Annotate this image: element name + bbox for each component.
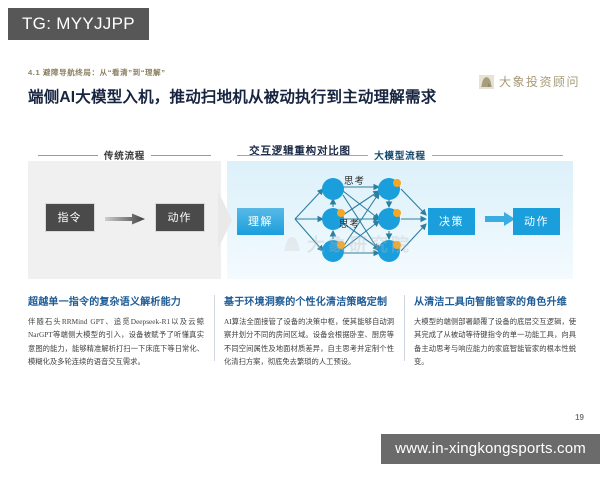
elephant-icon <box>479 75 494 89</box>
insight-body: 大模型的端侧部署颠覆了设备的底层交互逻辑，使其完成了从被动等待键指令的单一功能工… <box>414 315 576 369</box>
network-node-accent <box>337 241 345 249</box>
url-watermark-overlay: www.in-xingkongsports.com <box>381 434 600 464</box>
page-title: 端侧AI大模型入机，推动扫地机从被动执行到主动理解需求 <box>28 85 436 107</box>
insight-column: 从清洁工具向智能管家的角色升维 大模型的端侧部署颠覆了设备的底层交互逻辑，使其完… <box>404 293 576 369</box>
insight-heading: 基于环境洞察的个性化清洁策略定制 <box>224 293 394 308</box>
slide-header: 4.1 避障导航终局：从“看清”到“理解” 端侧AI大模型入机，推动扫地机从被动… <box>28 67 436 107</box>
llm-step-decide: 决策 <box>428 208 475 235</box>
divider-line-right <box>151 155 211 156</box>
insight-columns: 超越单一指令的复杂语义解析能力 伴随石头RRMind GPT、追觅Deepsee… <box>24 293 576 369</box>
divider-line-left <box>237 155 368 156</box>
traditional-flow-pane: 传统流程 指令 <box>28 161 221 279</box>
insight-column: 超越单一指令的复杂语义解析能力 伴随石头RRMind GPT、追觅Deepsee… <box>24 293 214 369</box>
network-node <box>322 178 344 200</box>
tg-badge-overlay: TG: MYYJJPP <box>8 8 149 40</box>
brand-logo: 大象投资顾问 <box>479 73 580 90</box>
insight-body: 伴随石头RRMind GPT、追觅Deepseek-R1以及云鲸NarGPT等端… <box>28 315 204 369</box>
neural-network-flow: 大象研究院 思考 思考 理解 决策 动作 <box>227 161 573 279</box>
page-number: 19 <box>575 413 584 422</box>
llm-step-action: 动作 <box>513 208 560 235</box>
llm-flow-pane: 大模型流程 <box>227 161 573 279</box>
section-kicker: 4.1 避障导航终局：从“看清”到“理解” <box>28 67 436 78</box>
traditional-step-action: 动作 <box>155 203 205 232</box>
network-node-accent <box>393 241 401 249</box>
think-label-2: 思考 <box>339 216 360 230</box>
traditional-flow-label: 传统流程 <box>104 148 145 162</box>
think-label-1: 思考 <box>344 173 365 187</box>
column-divider <box>404 295 405 361</box>
pane-transition-wedge-icon <box>218 191 232 249</box>
network-node-accent <box>393 209 401 217</box>
insight-heading: 从清洁工具向智能管家的角色升维 <box>414 293 576 308</box>
traditional-step-command: 指令 <box>45 203 95 232</box>
traditional-arrow-icon <box>105 212 145 224</box>
divider-line-left <box>38 155 98 156</box>
traditional-flow-row: 指令 动作 <box>28 203 221 232</box>
llm-flow-label: 大模型流程 <box>374 148 426 162</box>
column-divider <box>214 295 215 361</box>
traditional-flow-label-row: 传统流程 <box>28 148 221 162</box>
insight-heading: 超越单一指令的复杂语义解析能力 <box>28 293 204 308</box>
screenshot-root: TG: MYYJJPP 4.1 避障导航终局：从“看清”到“理解” 端侧AI大模… <box>0 0 600 480</box>
insight-body: AI算法全面接管了设备的决策中枢，使其能够自动洞察并划分不同的房间区域。设备会根… <box>224 315 394 369</box>
llm-step-understand: 理解 <box>237 208 284 235</box>
comparison-diagram: 传统流程 指令 <box>28 161 573 279</box>
insight-column: 基于环境洞察的个性化清洁策略定制 AI算法全面接管了设备的决策中枢，使其能够自动… <box>214 293 404 369</box>
llm-flow-label-row: 大模型流程 <box>227 148 573 162</box>
brand-name: 大象投资顾问 <box>499 73 580 90</box>
divider-line-right <box>432 155 563 156</box>
slide: 4.1 避障导航终局：从“看清”到“理解” 端侧AI大模型入机，推动扫地机从被动… <box>0 55 600 430</box>
network-node-accent <box>393 179 401 187</box>
